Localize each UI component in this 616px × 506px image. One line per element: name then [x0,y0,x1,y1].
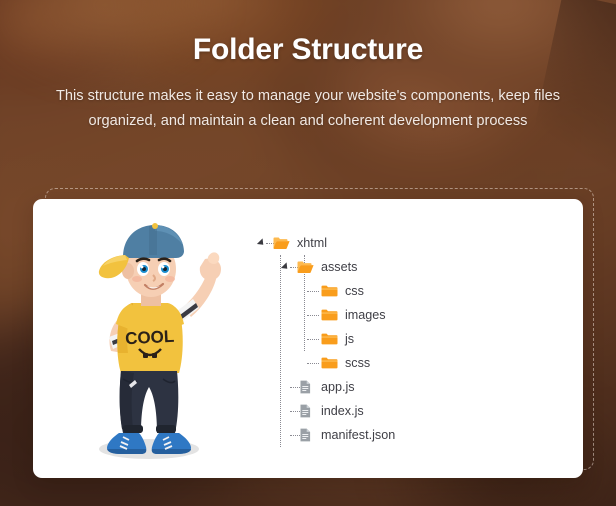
folder-icon [321,332,338,346]
boy-illustration: COOL [71,211,231,466]
tree-connector [307,363,319,364]
tree-node-label: scss [345,356,370,370]
chevron-down-icon[interactable] [281,262,290,271]
folder-open-icon [273,236,290,250]
tree-node-scss[interactable]: scss [255,351,555,375]
tree-node-label: assets [321,260,357,274]
tree-node-css[interactable]: css [255,279,555,303]
page-title: Folder Structure [0,33,616,67]
folder-icon [321,284,338,298]
header-block: Folder Structure This structure makes it… [0,33,616,134]
file-icon [297,380,314,394]
tree-node-label: js [345,332,354,346]
tree-node-app-js[interactable]: app.js [255,375,555,399]
tree-node-images[interactable]: images [255,303,555,327]
tree-node-assets[interactable]: assets [255,255,555,279]
slide-canvas: Folder Structure This structure makes it… [0,0,616,506]
tree-connector [307,339,319,340]
file-icon [297,428,314,442]
svg-text:COOL: COOL [125,327,175,349]
tree-node-xhtml[interactable]: xhtml [255,231,555,255]
file-icon [297,404,314,418]
chevron-down-icon[interactable] [257,238,266,247]
folder-icon [321,308,338,322]
tree-connector [307,315,319,316]
folder-open-icon [297,260,314,274]
tree-node-label: manifest.json [321,428,395,442]
tree-node-label: css [345,284,364,298]
tree-node-label: app.js [321,380,355,394]
tree-node-js[interactable]: js [255,327,555,351]
tree-node-index-js[interactable]: index.js [255,399,555,423]
tree-connector [307,291,319,292]
tree-node-manifest-json[interactable]: manifest.json [255,423,555,447]
page-subtitle: This structure makes it easy to manage y… [28,84,588,134]
folder-icon [321,356,338,370]
tree-node-label: index.js [321,404,364,418]
tree-node-label: xhtml [297,236,327,250]
content-card: COOL [33,199,583,478]
folder-structure-tree: xhtml assets css [255,231,555,447]
tree-node-label: images [345,308,386,322]
